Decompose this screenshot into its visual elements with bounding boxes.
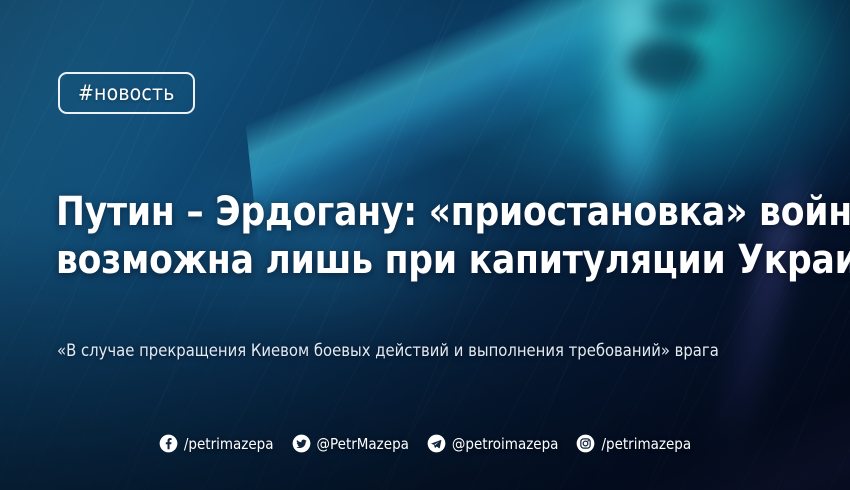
social-link-twitter[interactable]: @PetrMazepa bbox=[292, 434, 409, 453]
social-handle-instagram: /petrimazepa bbox=[601, 435, 691, 453]
twitter-icon bbox=[292, 434, 311, 453]
subtitle: «В случае прекращения Киевом боевых дейс… bbox=[57, 340, 719, 362]
social-handle-facebook: /petrimazepa bbox=[184, 435, 274, 453]
social-link-telegram[interactable]: @petroimazepa bbox=[427, 434, 559, 453]
headline-line-1: Путин – Эрдогану: «приостановка» войны bbox=[56, 188, 728, 236]
news-card: #новость Путин – Эрдогану: «приостановка… bbox=[0, 0, 850, 490]
headline-line-2: возможна лишь при капитуляции Украины bbox=[56, 236, 728, 284]
facebook-icon bbox=[159, 434, 178, 453]
social-link-facebook[interactable]: /petrimazepa bbox=[159, 434, 274, 453]
telegram-icon bbox=[427, 434, 446, 453]
category-badge[interactable]: #новость bbox=[58, 72, 195, 114]
social-link-instagram[interactable]: /petrimazepa bbox=[576, 434, 691, 453]
social-links-bar: /petrimazepa @PetrMazepa bbox=[0, 434, 850, 453]
card-content: #новость Путин – Эрдогану: «приостановка… bbox=[0, 0, 850, 490]
page-title: Путин – Эрдогану: «приостановка» войны в… bbox=[56, 188, 728, 284]
social-handle-telegram: @petroimazepa bbox=[452, 435, 559, 453]
social-handle-twitter: @PetrMazepa bbox=[317, 435, 409, 453]
instagram-icon bbox=[576, 434, 595, 453]
